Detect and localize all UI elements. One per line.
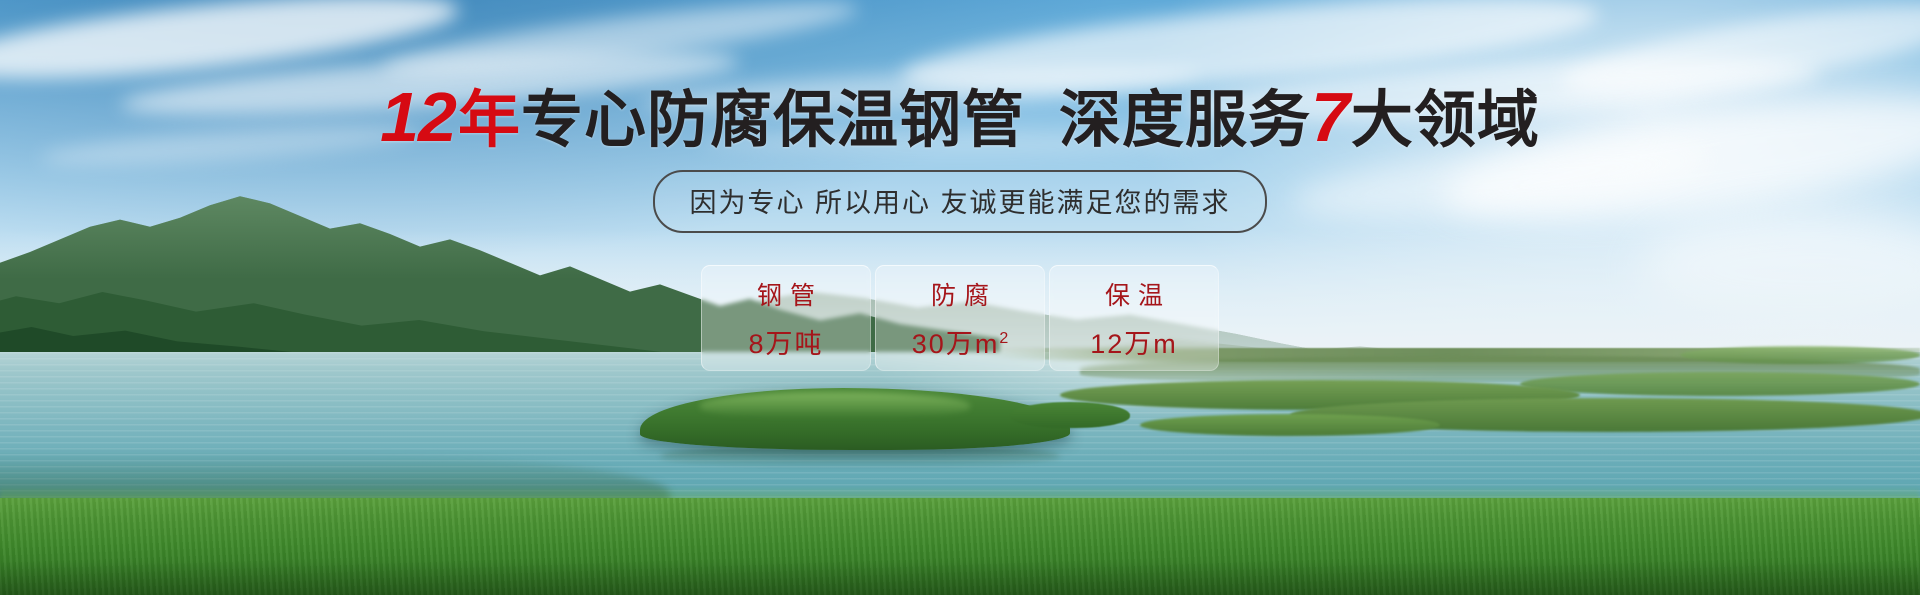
headline-fields-number: 7: [1311, 78, 1351, 156]
banner-headline: 12年专心防腐保温钢管深度服务7大领域: [0, 82, 1920, 152]
stat-card-value: 12万m: [1090, 322, 1178, 361]
stat-card-value-text: 12万m: [1090, 329, 1178, 359]
stat-card-group: 钢管 8万吨 防腐 30万m2 保温 12万m: [0, 265, 1920, 371]
stat-card: 防腐 30万m2: [875, 265, 1045, 371]
stat-card-value-text: 8万吨: [748, 329, 823, 359]
stat-card-label: 保温: [1097, 276, 1171, 312]
stat-card-value: 8万吨: [748, 322, 823, 361]
headline-part2: 深度服务: [1059, 86, 1311, 155]
stat-card-label: 钢管: [749, 276, 823, 312]
headline-part3: 大领域: [1351, 86, 1540, 155]
banner-subtitle: 因为专心 所以用心 友诚更能满足您的需求: [653, 170, 1266, 233]
stat-card: 钢管 8万吨: [701, 265, 871, 371]
headline-part1: 专心防腐保温钢管: [521, 86, 1025, 155]
banner-subtitle-wrap: 因为专心 所以用心 友诚更能满足您的需求: [0, 170, 1920, 233]
stat-card-value-text: 30万m: [912, 329, 1000, 359]
stat-card-label: 防腐: [923, 276, 997, 312]
stat-card-value-superscript: 2: [999, 330, 1008, 347]
stat-card: 保温 12万m: [1049, 265, 1219, 371]
stat-card-value: 30万m2: [912, 322, 1008, 361]
headline-years-number: 12: [380, 78, 458, 156]
headline-years-unit: 年: [458, 86, 521, 155]
hero-banner: 12年专心防腐保温钢管深度服务7大领域 因为专心 所以用心 友诚更能满足您的需求…: [0, 0, 1920, 595]
